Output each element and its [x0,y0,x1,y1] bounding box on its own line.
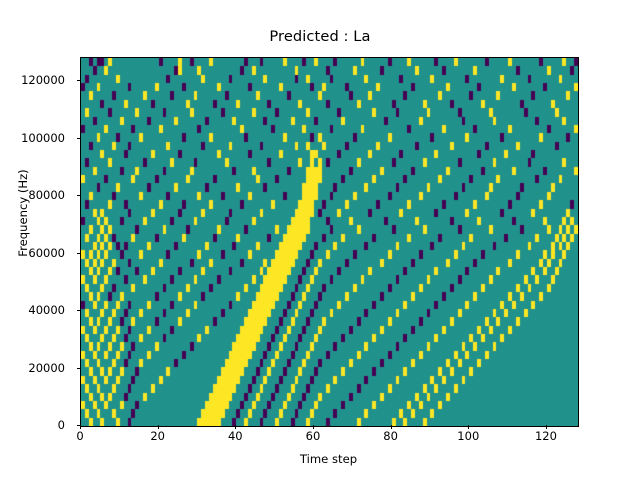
y-tick-label: 80000 [28,188,65,202]
x-tick-mark [235,425,236,429]
y-axis-label: Frequency (Hz) [16,33,30,393]
x-tick-label: 20 [150,429,165,443]
x-tick-mark [158,425,159,429]
figure-canvas: Predicted : La 0200004000060000800001000… [0,0,640,480]
y-tick-mark [77,310,81,311]
chart-title: Predicted : La [0,28,640,45]
x-tick-mark [391,425,392,429]
y-tick-mark [77,138,81,139]
x-tick-mark [546,425,547,429]
heatmap-axes [80,57,579,427]
y-tick-mark [77,253,81,254]
x-tick-label: 100 [457,429,479,443]
y-tick-mark [77,80,81,81]
y-tick-label: 40000 [28,303,65,317]
x-tick-label: 60 [306,429,321,443]
x-tick-label: 120 [535,429,557,443]
heatmap-image [81,58,578,426]
y-tick-label: 20000 [28,361,65,375]
x-tick-label: 80 [383,429,398,443]
x-tick-mark [80,425,81,429]
x-tick-mark [468,425,469,429]
y-tick-label: 0 [58,418,65,432]
y-tick-mark [77,195,81,196]
x-axis-label: Time step [80,452,577,466]
y-tick-mark [77,368,81,369]
x-tick-mark [313,425,314,429]
x-tick-label: 40 [228,429,243,443]
y-tick-label: 60000 [28,246,65,260]
x-tick-label: 0 [76,429,83,443]
